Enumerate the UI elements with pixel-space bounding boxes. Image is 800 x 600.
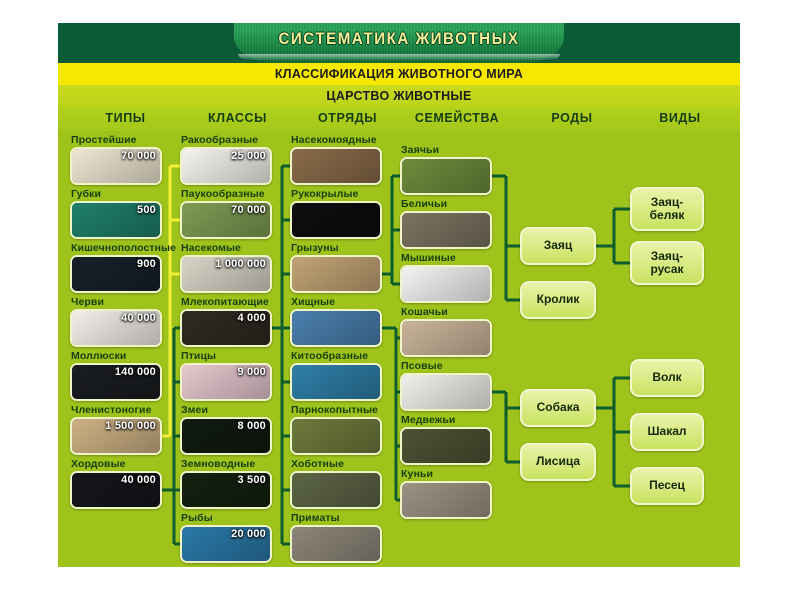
species-count-types-5: 1 500 000 xyxy=(105,420,156,432)
taxon-box-species-3[interactable]: Шакал xyxy=(630,413,704,451)
card-caption-orders-7: Приматы xyxy=(291,512,340,524)
taxon-card-types-0[interactable]: 70 000 xyxy=(70,147,162,185)
marten-photo xyxy=(402,483,490,517)
classification-diagram: Простейшие70 000Губки500Кишечнополостные… xyxy=(58,131,740,567)
species-count-types-0: 70 000 xyxy=(121,150,156,162)
hedgehog-photo xyxy=(292,149,380,183)
card-caption-families-1: Беличьи xyxy=(401,198,447,210)
species-count-types-4: 140 000 xyxy=(115,366,156,378)
species-count-classes-0: 25 000 xyxy=(231,150,266,162)
taxon-box-genera-2[interactable]: Собака xyxy=(520,389,596,427)
card-caption-orders-2: Грызуны xyxy=(291,242,339,254)
dolphin-photo xyxy=(292,365,380,399)
taxon-card-types-2[interactable]: 900 xyxy=(70,255,162,293)
card-caption-classes-0: Ракообразные xyxy=(181,134,258,146)
species-count-classes-7: 20 000 xyxy=(231,528,266,540)
card-caption-orders-5: Парнокопытные xyxy=(291,404,378,416)
dog-photo xyxy=(402,375,490,409)
taxon-box-genera-3[interactable]: Лисица xyxy=(520,443,596,481)
taxon-card-orders-5[interactable] xyxy=(290,417,382,455)
card-caption-orders-4: Китообразные xyxy=(291,350,368,362)
taxon-box-genera-0[interactable]: Заяц xyxy=(520,227,596,265)
taxon-card-types-4[interactable]: 140 000 xyxy=(70,363,162,401)
bear-photo xyxy=(402,429,490,463)
taxon-box-genera-1[interactable]: Кролик xyxy=(520,281,596,319)
card-caption-types-1: Губки xyxy=(71,188,101,200)
taxon-card-families-2[interactable] xyxy=(400,265,492,303)
mouse-photo xyxy=(292,257,380,291)
taxon-card-classes-7[interactable]: 20 000 xyxy=(180,525,272,563)
card-caption-types-0: Простейшие xyxy=(71,134,137,146)
deer-photo xyxy=(292,419,380,453)
card-caption-types-4: Моллюски xyxy=(71,350,126,362)
card-caption-types-2: Кишечнополостные xyxy=(71,242,176,254)
taxon-card-orders-1[interactable] xyxy=(290,201,382,239)
taxon-box-species-1[interactable]: Заяц- русак xyxy=(630,241,704,285)
taxon-card-families-1[interactable] xyxy=(400,211,492,249)
taxon-card-families-6[interactable] xyxy=(400,481,492,519)
species-count-classes-2: 1 000 000 xyxy=(215,258,266,270)
taxon-card-classes-6[interactable]: 3 500 xyxy=(180,471,272,509)
hare-photo xyxy=(402,159,490,193)
rank-header-5: ВИДЫ xyxy=(624,111,736,125)
taxon-card-classes-0[interactable]: 25 000 xyxy=(180,147,272,185)
card-caption-classes-4: Птицы xyxy=(181,350,216,362)
rank-header-0: ТИПЫ xyxy=(68,111,183,125)
kingdom-bar: ЦАРСТВО ЖИВОТНЫЕ xyxy=(58,85,740,107)
species-count-types-2: 900 xyxy=(137,258,156,270)
taxon-card-types-6[interactable]: 40 000 xyxy=(70,471,162,509)
card-caption-orders-1: Рукокрылые xyxy=(291,188,359,200)
species-count-types-3: 40 000 xyxy=(121,312,156,324)
rank-header-1: КЛАССЫ xyxy=(180,111,295,125)
card-caption-types-5: Членистоногие xyxy=(71,404,152,416)
housemouse-photo xyxy=(402,267,490,301)
poster-title: СИСТЕМАТИКА ЖИВОТНЫХ xyxy=(278,30,519,63)
cat-photo xyxy=(402,321,490,355)
taxon-card-families-4[interactable] xyxy=(400,373,492,411)
taxon-card-families-3[interactable] xyxy=(400,319,492,357)
card-caption-types-3: Черви xyxy=(71,296,104,308)
rank-header-2: ОТРЯДЫ xyxy=(290,111,405,125)
poster-root: СИСТЕМАТИКА ЖИВОТНЫХ КЛАССИФИКАЦИЯ ЖИВОТ… xyxy=(58,23,740,567)
taxon-card-orders-7[interactable] xyxy=(290,525,382,563)
title-banner: СИСТЕМАТИКА ЖИВОТНЫХ xyxy=(234,23,564,63)
rank-header-3: СЕМЕЙСТВА xyxy=(398,111,516,125)
species-count-types-1: 500 xyxy=(137,204,156,216)
taxon-card-types-1[interactable]: 500 xyxy=(70,201,162,239)
lion-photo xyxy=(292,311,380,345)
card-caption-families-2: Мышиные xyxy=(401,252,456,264)
elephant-photo xyxy=(292,473,380,507)
taxon-box-species-4[interactable]: Песец xyxy=(630,467,704,505)
taxon-box-species-2[interactable]: Волк xyxy=(630,359,704,397)
taxon-card-classes-1[interactable]: 70 000 xyxy=(180,201,272,239)
taxon-card-orders-3[interactable] xyxy=(290,309,382,347)
card-caption-classes-1: Паукообразные xyxy=(181,188,265,200)
taxon-box-species-0[interactable]: Заяц- беляк xyxy=(630,187,704,231)
kingdom-text: ЦАРСТВО ЖИВОТНЫЕ xyxy=(326,89,471,103)
card-caption-classes-6: Земноводные xyxy=(181,458,255,470)
taxon-card-orders-0[interactable] xyxy=(290,147,382,185)
card-caption-families-5: Медвежьи xyxy=(401,414,455,426)
subtitle-text: КЛАССИФИКАЦИЯ ЖИВОТНОГО МИРА xyxy=(275,67,523,81)
card-caption-classes-7: Рыбы xyxy=(181,512,213,524)
species-count-classes-3: 4 000 xyxy=(237,312,266,324)
card-caption-families-0: Заячьи xyxy=(401,144,439,156)
card-caption-families-3: Кошачьи xyxy=(401,306,448,318)
taxon-card-classes-4[interactable]: 9 000 xyxy=(180,363,272,401)
card-caption-orders-0: Насекомоядные xyxy=(291,134,377,146)
card-caption-types-6: Хордовые xyxy=(71,458,126,470)
bat-photo xyxy=(292,203,380,237)
taxon-card-families-0[interactable] xyxy=(400,157,492,195)
taxon-card-classes-2[interactable]: 1 000 000 xyxy=(180,255,272,293)
species-count-types-6: 40 000 xyxy=(121,474,156,486)
macaque-photo xyxy=(292,527,380,561)
taxon-card-orders-6[interactable] xyxy=(290,471,382,509)
taxon-card-families-5[interactable] xyxy=(400,427,492,465)
subtitle-bar: КЛАССИФИКАЦИЯ ЖИВОТНОГО МИРА xyxy=(58,63,740,85)
card-caption-orders-3: Хищные xyxy=(291,296,335,308)
card-caption-families-4: Псовые xyxy=(401,360,443,372)
rank-header-4: РОДЫ xyxy=(516,111,628,125)
squirrel-photo xyxy=(402,213,490,247)
species-count-classes-1: 70 000 xyxy=(231,204,266,216)
card-caption-orders-6: Хоботные xyxy=(291,458,344,470)
species-count-classes-4: 9 000 xyxy=(237,366,266,378)
taxon-card-types-3[interactable]: 40 000 xyxy=(70,309,162,347)
card-caption-classes-2: Насекомые xyxy=(181,242,241,254)
rank-header-row: ТИПЫКЛАССЫОТРЯДЫСЕМЕЙСТВАРОДЫВИДЫ xyxy=(58,107,740,131)
card-caption-classes-5: Змеи xyxy=(181,404,208,416)
taxon-card-classes-3[interactable]: 4 000 xyxy=(180,309,272,347)
top-dark-band: СИСТЕМАТИКА ЖИВОТНЫХ xyxy=(58,23,740,63)
card-caption-classes-3: Млекопитающие xyxy=(181,296,269,308)
taxon-card-orders-2[interactable] xyxy=(290,255,382,293)
taxon-card-types-5[interactable]: 1 500 000 xyxy=(70,417,162,455)
species-count-classes-5: 8 000 xyxy=(237,420,266,432)
card-caption-families-6: Куньи xyxy=(401,468,433,480)
taxon-card-orders-4[interactable] xyxy=(290,363,382,401)
species-count-classes-6: 3 500 xyxy=(237,474,266,486)
taxon-card-classes-5[interactable]: 8 000 xyxy=(180,417,272,455)
